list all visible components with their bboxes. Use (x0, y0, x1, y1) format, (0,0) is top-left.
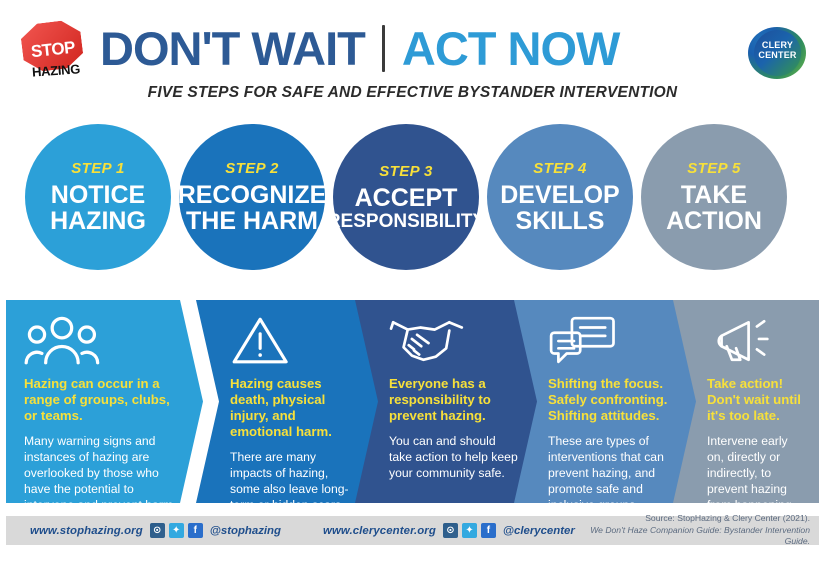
facebook-icon[interactable]: f (188, 523, 203, 538)
step-4-label: STEP 4 (533, 160, 587, 177)
clerycenter-footer-group: www.clerycenter.org ⊙ ✦ f @clerycenter (323, 523, 575, 538)
step-3-title-line1: ACCEPT (327, 186, 485, 212)
step-4-title-line1: DEVELOP (500, 183, 619, 209)
stophazing-url-link[interactable]: www.stophazing.org (30, 525, 143, 537)
step-1-label: STEP 1 (71, 160, 125, 177)
title-act-now: ACT NOW (402, 25, 620, 72)
facebook-icon[interactable]: f (481, 523, 496, 538)
infographic-page: STOP HAZING DON'T WAIT ACT NOW CLERY CEN… (0, 0, 825, 550)
panel-5-headline: Take action! Don't wait until it's too l… (707, 376, 805, 424)
step-3-title-line2: RESPONSIBILITY (327, 212, 485, 231)
step-1-title: NOTICE HAZING (50, 183, 146, 234)
step-5-title: TAKE ACTION (666, 183, 762, 234)
step-5-title-line1: TAKE (666, 183, 762, 209)
step-circle-5[interactable]: STEP 5 TAKE ACTION (641, 124, 787, 270)
twitter-icon[interactable]: ✦ (462, 523, 477, 538)
step-2-title: RECOGNIZE THE HARM (178, 183, 327, 234)
panel-2-headline: Hazing causes death, physical injury, an… (230, 376, 360, 440)
clery-center-logo: CLERY CENTER (748, 27, 806, 79)
stophazing-logo: STOP HAZING (16, 22, 96, 84)
twitter-icon[interactable]: ✦ (169, 523, 184, 538)
detail-panel-4[interactable]: Shifting the focus. Safely confronting. … (514, 300, 704, 503)
handshake-icon (389, 314, 468, 366)
step-circle-3[interactable]: STEP 3 ACCEPT RESPONSIBILITY (333, 124, 479, 270)
step-circle-2[interactable]: STEP 2 RECOGNIZE THE HARM (179, 124, 325, 270)
panel-4-body: These are types of interventions that ca… (548, 434, 678, 513)
panel-3-headline: Everyone has a responsibility to prevent… (389, 376, 519, 424)
instagram-icon[interactable]: ⊙ (150, 523, 165, 538)
step-4-title-line2: SKILLS (500, 209, 619, 235)
step-4-title: DEVELOP SKILLS (500, 183, 619, 234)
stophazing-handle[interactable]: @stophazing (210, 525, 281, 537)
panel-4-headline: Shifting the focus. Safely confronting. … (548, 376, 678, 424)
step-circle-1[interactable]: STEP 1 NOTICE HAZING (25, 124, 171, 270)
step-5-label: STEP 5 (687, 160, 741, 177)
step-2-label: STEP 2 (225, 160, 279, 177)
source-line-2: We Don't Haze Companion Guide: Bystander… (575, 525, 810, 548)
clerycenter-handle[interactable]: @clerycenter (503, 525, 575, 537)
step-2-title-line2: THE HARM (178, 209, 327, 235)
step-5-title-line2: ACTION (666, 209, 762, 235)
step-3-title: ACCEPT RESPONSIBILITY (327, 186, 485, 231)
clerycenter-url-link[interactable]: www.clerycenter.org (323, 525, 436, 537)
clerycenter-social-icons: ⊙ ✦ f (443, 523, 496, 538)
step-1-title-line2: HAZING (50, 209, 146, 235)
clery-logo-line1: CLERY (754, 40, 801, 50)
step-circle-4[interactable]: STEP 4 DEVELOP SKILLS (487, 124, 633, 270)
stophazing-social-icons: ⊙ ✦ f (150, 523, 203, 538)
step-1-title-line1: NOTICE (50, 183, 146, 209)
subtitle: FIVE STEPS FOR SAFE AND EFFECTIVE BYSTAN… (0, 84, 825, 102)
detail-panel-1[interactable]: Hazing can occur in a range of groups, c… (6, 300, 203, 503)
title-divider (382, 25, 385, 72)
detail-panels-row: Hazing can occur in a range of groups, c… (0, 300, 825, 505)
panel-1-headline: Hazing can occur in a range of groups, c… (24, 376, 177, 424)
header: STOP HAZING DON'T WAIT ACT NOW CLERY CEN… (0, 8, 825, 84)
stop-logo-word-hazing: HAZING (18, 60, 95, 80)
megaphone-icon (707, 314, 776, 366)
warning-triangle-icon (230, 314, 290, 366)
panel-1-body: Many warning signs and instances of hazi… (24, 434, 177, 513)
speech-bubbles-icon (548, 314, 617, 366)
steps-row: STEP 1 NOTICE HAZING STEP 2 RECOGNIZE TH… (0, 124, 825, 272)
clery-logo-text: CLERY CENTER (754, 40, 801, 60)
group-of-people-icon (24, 314, 100, 366)
panel-2-body: There are many impacts of hazing, some a… (230, 450, 360, 513)
panel-3-body: You can and should take action to help k… (389, 434, 519, 482)
clery-logo-line2: CENTER (754, 50, 801, 60)
source-line-1: Source: StopHazing & Clery Center (2021)… (575, 513, 810, 525)
stophazing-footer-group: www.stophazing.org ⊙ ✦ f @stophazing (30, 523, 281, 538)
footer-bar: www.stophazing.org ⊙ ✦ f @stophazing www… (6, 516, 819, 545)
title-dont-wait: DON'T WAIT (100, 25, 365, 72)
detail-panel-2[interactable]: Hazing causes death, physical injury, an… (196, 300, 386, 503)
step-2-title-line1: RECOGNIZE (178, 183, 327, 209)
detail-panel-3[interactable]: Everyone has a responsibility to prevent… (355, 300, 545, 503)
source-citation: Source: StopHazing & Clery Center (2021)… (575, 513, 819, 548)
step-3-label: STEP 3 (379, 163, 433, 180)
instagram-icon[interactable]: ⊙ (443, 523, 458, 538)
page-title: DON'T WAIT ACT NOW (100, 16, 619, 80)
